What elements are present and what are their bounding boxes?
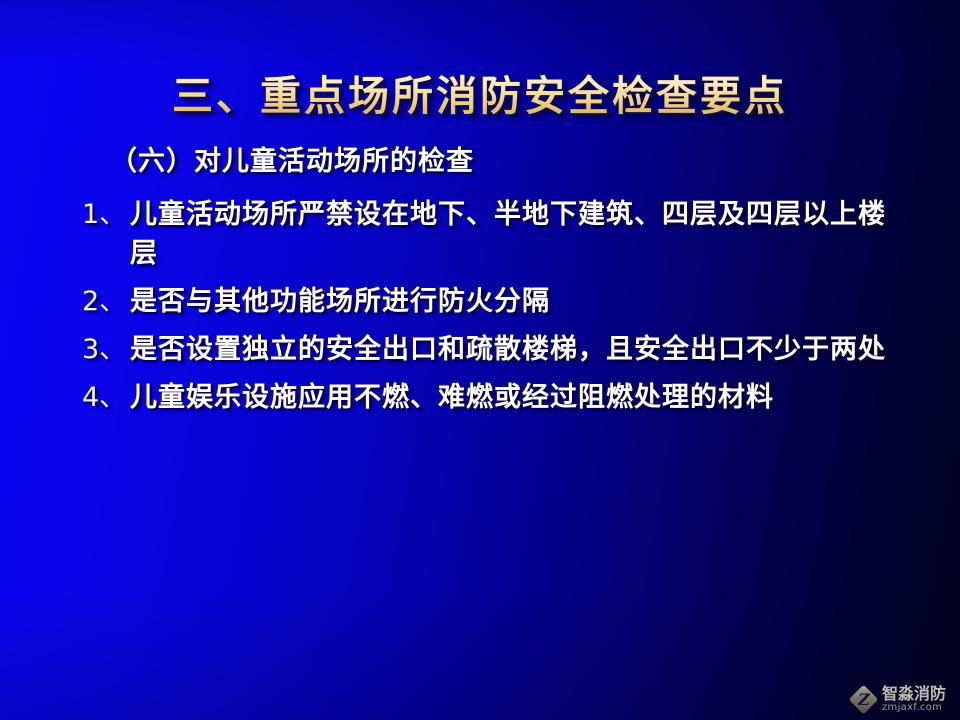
slide-subheading: （六）对儿童活动场所的检查 <box>110 144 912 180</box>
list-item: 3、 是否设置独立的安全出口和疏散楼梯，且安全出口不少于两处 <box>82 331 912 370</box>
list-item-number: 1、 <box>82 196 130 235</box>
list-item-text: 是否设置独立的安全出口和疏散楼梯，且安全出口不少于两处 <box>130 331 912 370</box>
list-item-number: 4、 <box>82 379 130 418</box>
list-item: 1、 儿童活动场所严禁设在地下、半地下建筑、四层及四层以上楼层 <box>82 196 912 274</box>
brand-logo-letter: Z <box>849 684 879 714</box>
presentation-slide: 三、重点场所消防安全检查要点 （六）对儿童活动场所的检查 1、 儿童活动场所严禁… <box>0 0 960 720</box>
brand-diamond-logo-icon: Z <box>849 684 879 714</box>
slide-body: （六）对儿童活动场所的检查 1、 儿童活动场所严禁设在地下、半地下建筑、四层及四… <box>82 144 912 427</box>
list-item-text: 儿童娱乐设施应用不燃、难燃或经过阻燃处理的材料 <box>130 379 912 418</box>
list-item-number: 2、 <box>82 283 130 322</box>
list-item: 4、 儿童娱乐设施应用不燃、难燃或经过阻燃处理的材料 <box>82 379 912 418</box>
watermark-url: zmjaxf.com <box>882 703 946 713</box>
slide-title: 三、重点场所消防安全检查要点 <box>0 74 960 120</box>
list-item-text: 是否与其他功能场所进行防火分隔 <box>130 283 912 322</box>
watermark-brand-name: 智淼消防 <box>882 686 946 702</box>
watermark: Z 智淼消防 zmjaxf.com <box>849 684 946 714</box>
list-item: 2、 是否与其他功能场所进行防火分隔 <box>82 283 912 322</box>
list-item-number: 3、 <box>82 331 130 370</box>
watermark-text: 智淼消防 zmjaxf.com <box>882 686 946 713</box>
list-item-text: 儿童活动场所严禁设在地下、半地下建筑、四层及四层以上楼层 <box>130 196 912 274</box>
